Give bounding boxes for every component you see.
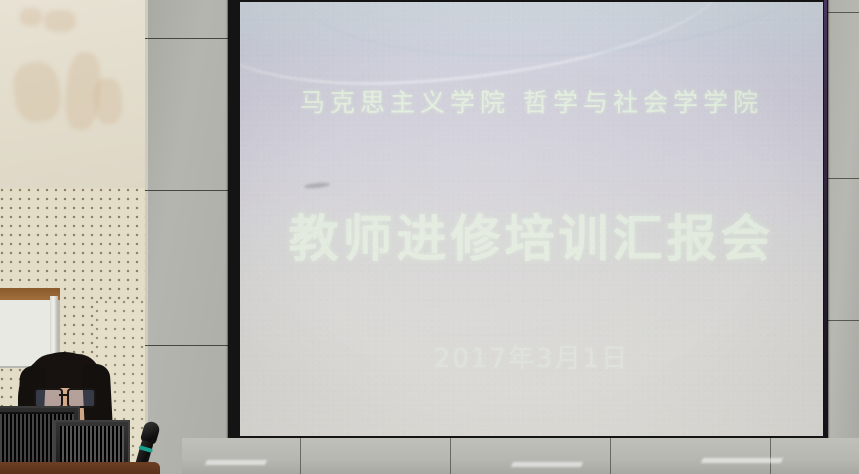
- wall-stain: [10, 59, 64, 125]
- panel-seam: [145, 190, 235, 191]
- panel-reflection: [511, 462, 583, 467]
- slide-title: 教师进修培训汇报会: [240, 199, 823, 271]
- glasses-icon: [34, 388, 96, 404]
- panel-edge: [145, 0, 148, 474]
- lecture-hall-photo: 马克思主义学院 哲学与社会学学院 教师进修培训汇报会 2017年3月1日: [0, 0, 859, 474]
- panel-seam: [826, 12, 859, 13]
- panel-seam: [450, 438, 451, 474]
- podium-desk: [0, 462, 160, 474]
- panel-seam: [300, 438, 301, 474]
- wall-band-bottom: [182, 438, 859, 474]
- slide-date: 2017年3月1日: [240, 338, 823, 375]
- wall-panel-column-left: [145, 0, 235, 474]
- wall-upper-left: [0, 0, 146, 188]
- panel-reflection: [701, 458, 783, 463]
- panel-seam: [770, 438, 771, 474]
- panel-seam: [826, 320, 859, 321]
- projection-screen: 马克思主义学院 哲学与社会学学院 教师进修培训汇报会 2017年3月1日: [240, 2, 823, 436]
- glasses-bridge: [59, 394, 67, 396]
- board-post: [50, 296, 58, 358]
- panel-seam: [145, 38, 235, 39]
- glasses-lens-right: [67, 388, 96, 408]
- wall-panel-column-right: [826, 0, 859, 474]
- panel-seam: [145, 345, 235, 346]
- screen-frame-edge: [824, 0, 827, 440]
- slide-content: 马克思主义学院 哲学与社会学学院 教师进修培训汇报会 2017年3月1日: [240, 2, 823, 436]
- wall-stain: [93, 77, 123, 124]
- slide-subtitle: 马克思主义学院 哲学与社会学学院: [240, 83, 823, 119]
- glasses-lens-left: [34, 388, 63, 408]
- panel-reflection: [205, 460, 267, 465]
- wall-stain: [20, 8, 42, 26]
- wall-stain: [44, 10, 76, 32]
- panel-seam: [826, 178, 859, 179]
- panel-seam: [610, 438, 611, 474]
